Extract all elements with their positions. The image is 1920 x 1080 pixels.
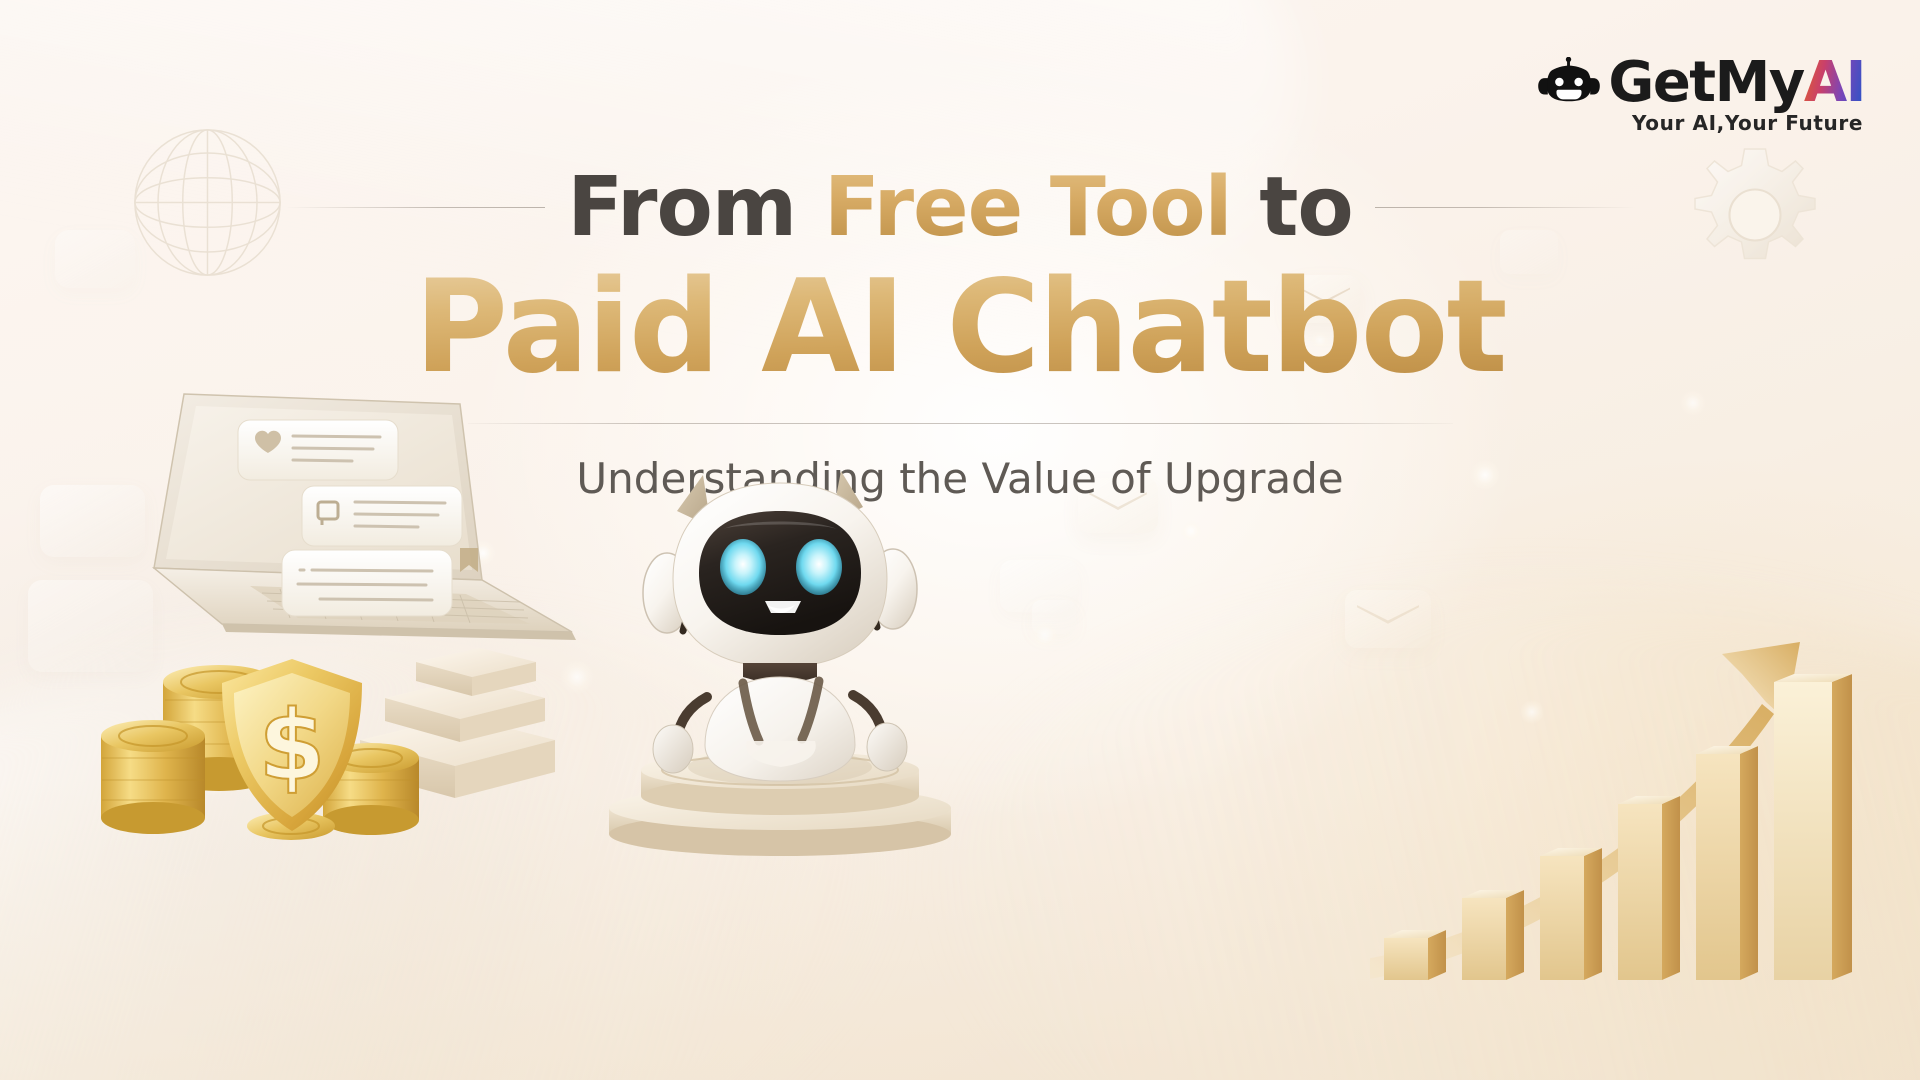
- logo-wordmark: GetMyAI: [1608, 55, 1865, 111]
- bokeh-sparkle: [470, 540, 496, 566]
- logo-name-accent: AI: [1804, 50, 1865, 115]
- chat-bubble-ghost: [1032, 600, 1076, 634]
- ghost-card: [28, 580, 153, 672]
- logo-row: GetMyAI: [1538, 55, 1865, 111]
- bokeh-sparkle: [905, 560, 921, 576]
- robot-neck: [743, 663, 817, 683]
- headline-line-1: From Free Tool to: [285, 160, 1635, 255]
- robot-smile: [767, 605, 795, 613]
- bokeh-sparkle: [200, 770, 226, 796]
- brand-logo[interactable]: GetMyAI Your AI,Your Future: [1538, 55, 1865, 133]
- headline-line-2: Paid AI Chatbot: [414, 259, 1505, 397]
- background-vignette: [0, 780, 1920, 1080]
- bokeh-sparkle: [760, 700, 782, 722]
- gold-coin-stacks: [95, 640, 435, 840]
- robot-eye-right: [796, 539, 842, 595]
- shield-with-dollar-sign: $: [212, 655, 372, 835]
- banner-canvas: GetMyAI Your AI,Your Future From Free To…: [0, 0, 1920, 1080]
- headline-divider: [468, 423, 1453, 424]
- headline-subtitle: Understanding the Value of Upgrade: [576, 454, 1343, 503]
- headline-rule-left: [285, 207, 545, 208]
- growth-bar-chart: [1370, 608, 1890, 1008]
- headline-rule-right: [1375, 207, 1635, 208]
- headline-line-1-text: From Free Tool to: [567, 160, 1352, 255]
- bokeh-sparkle: [560, 660, 594, 694]
- robot-arm-right: [853, 695, 907, 771]
- round-pedestal: [595, 750, 965, 860]
- logo-tagline: Your AI,Your Future: [1632, 113, 1863, 133]
- robot-eye-left: [720, 539, 766, 595]
- logo-name-prefix: GetMy: [1608, 50, 1803, 115]
- robot-arm-left: [653, 697, 707, 773]
- background-swoosh-left: [0, 546, 931, 1080]
- headline-free-tool: Free Tool: [824, 160, 1232, 255]
- robot-head-icon: [1538, 57, 1600, 109]
- chart-bars: [1384, 674, 1852, 980]
- bokeh-sparkle: [1030, 620, 1060, 650]
- bokeh-sparkle: [1520, 700, 1544, 724]
- headline-to: to: [1259, 160, 1353, 255]
- headline-block: From Free Tool to Paid AI Chatbot Unders…: [0, 160, 1920, 503]
- bokeh-sparkle: [640, 600, 658, 618]
- headline-from: From: [567, 160, 796, 255]
- stacked-boxes: [330, 620, 580, 810]
- bokeh-sparkle: [1180, 520, 1202, 542]
- chat-bubble-ghost: [1000, 560, 1078, 612]
- svg-text:$: $: [259, 690, 326, 802]
- envelope-icon: [1345, 590, 1431, 648]
